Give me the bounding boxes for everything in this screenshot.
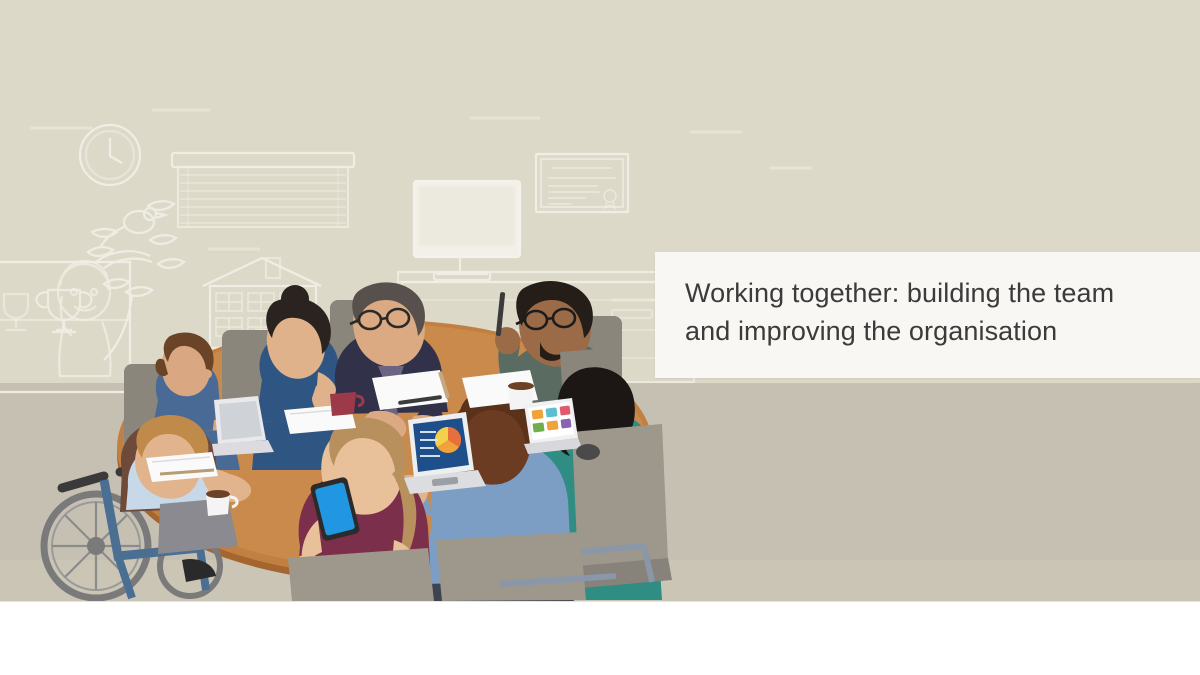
- mouse: [576, 444, 600, 460]
- page-title: Working together: building the team and …: [685, 274, 1174, 350]
- player-control-bar: n|g|a| learninglink: [0, 601, 1200, 675]
- elearning-slide: Working together: building the team and …: [0, 0, 1200, 675]
- slide-stage: Working together: building the team and …: [0, 0, 1200, 601]
- slide-title-panel: Working together: building the team and …: [655, 252, 1200, 378]
